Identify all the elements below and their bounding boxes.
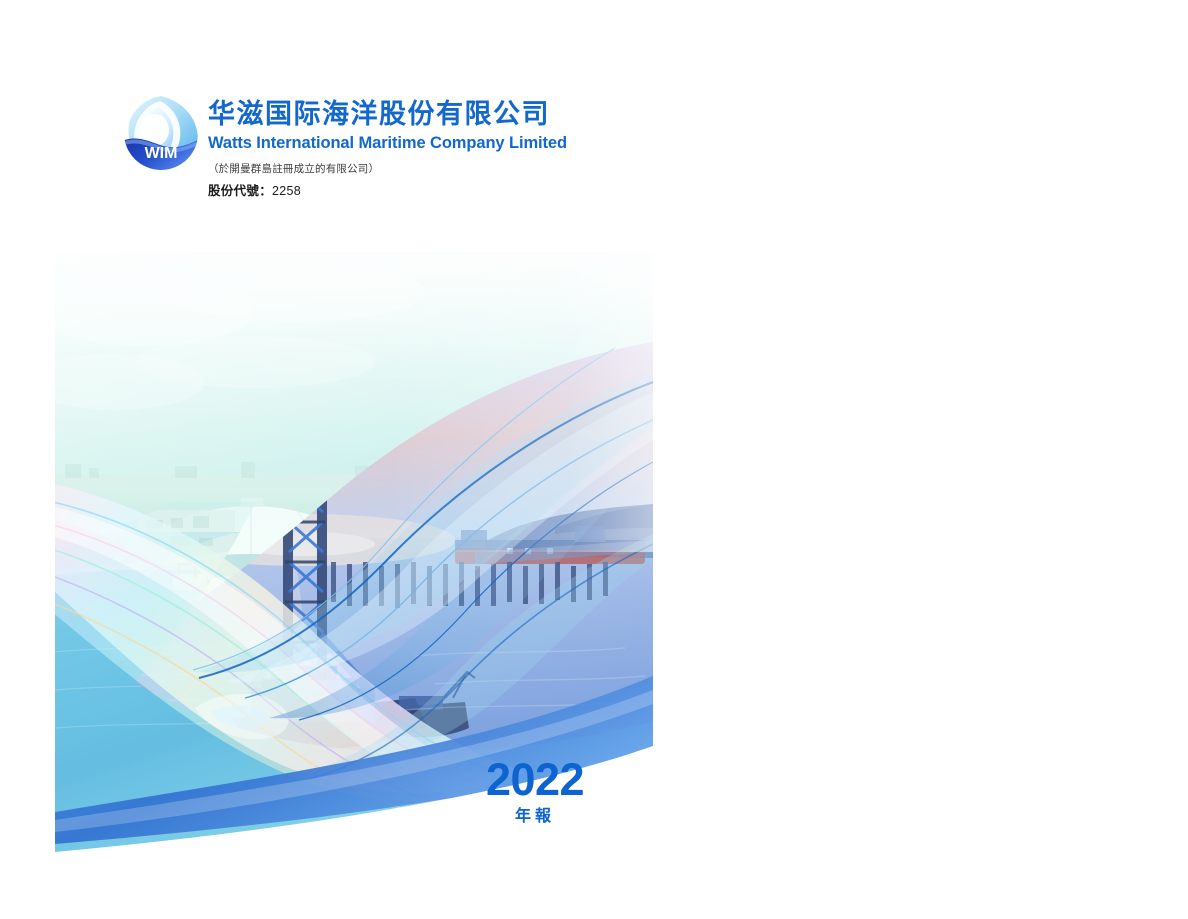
- report-year: 2022: [420, 757, 650, 802]
- report-type-label: 年報: [420, 808, 650, 824]
- company-name-chinese: 华滋国际海洋股份有限公司: [208, 100, 708, 129]
- company-name-english: Watts International Maritime Company Lim…: [208, 134, 708, 153]
- incorporation-note: （於開曼群島註冊成立的有限公司）: [208, 161, 708, 176]
- logo-monogram-text: WIM: [145, 145, 178, 162]
- year-block: 2022 年報: [420, 757, 650, 824]
- brand-text-block: 华滋国际海洋股份有限公司 Watts International Maritim…: [208, 100, 708, 199]
- stock-code-line: 股份代號：2258: [208, 180, 708, 199]
- annual-report-cover: WIM 华滋国际海洋股份有限公司 Watts International Mar…: [0, 0, 1188, 919]
- masthead: WIM 华滋国际海洋股份有限公司 Watts International Mar…: [122, 94, 722, 204]
- stock-code-value: 2258: [272, 184, 301, 198]
- stock-code-label: 股份代號：: [208, 183, 272, 198]
- wim-globe-sail-logo: WIM: [122, 94, 200, 172]
